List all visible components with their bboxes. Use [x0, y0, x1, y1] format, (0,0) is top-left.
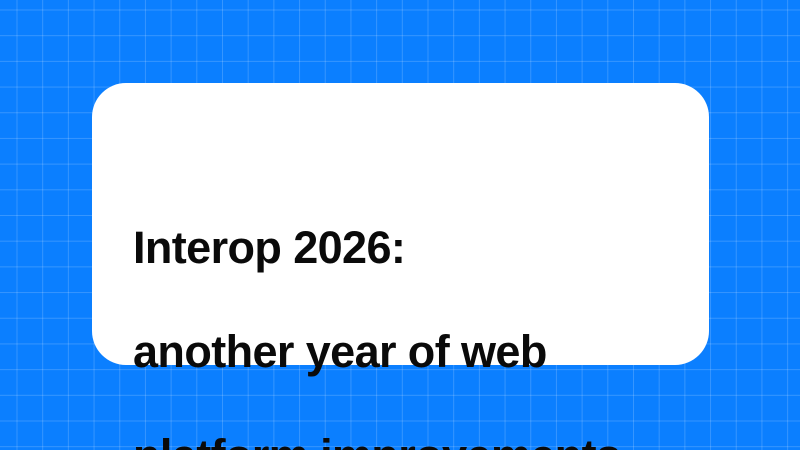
headline-line-1: Interop 2026:	[133, 222, 689, 274]
page-title: Interop 2026: another year of web platfo…	[133, 170, 689, 450]
headline-line-2: another year of web	[133, 326, 689, 378]
headline-line-3: platform improvements.	[133, 430, 689, 450]
title-card: Interop 2026: another year of web platfo…	[92, 83, 709, 365]
slide-canvas: Interop 2026: another year of web platfo…	[0, 0, 800, 450]
